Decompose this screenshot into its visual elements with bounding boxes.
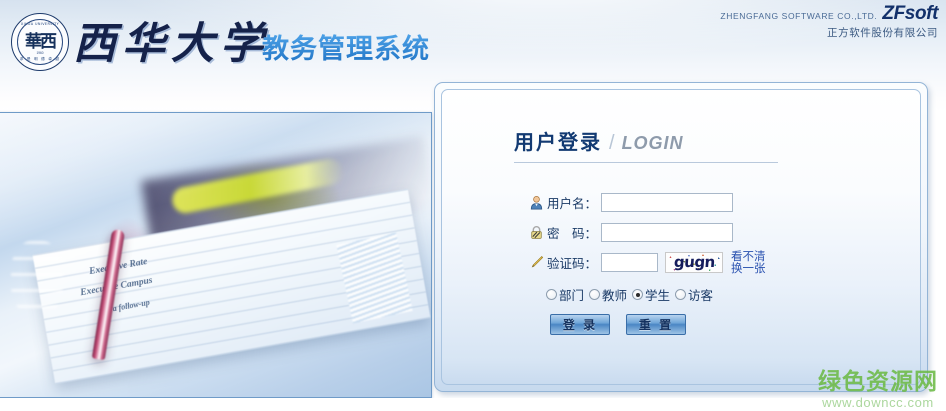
radio-dot-teacher[interactable] [589,289,600,300]
role-label-department: 部门 [559,285,584,304]
role-radio-group: 部门 教师 学生 访客 [546,285,868,304]
login-heading-divider [514,162,778,163]
vendor-name-en: ZHENGFANG SOFTWARE CO.,LTD. [720,12,877,21]
form-button-row: 登 录 重 置 [550,314,868,335]
captcha-image-text: gugn [673,253,715,271]
username-field-row: 用户名： [528,188,868,216]
login-title-separator: / [609,132,615,155]
login-title-cn: 用户登录 [514,126,602,155]
seal-year-text: 1960 [18,51,62,55]
vendor-name-cn: 正方软件股份有限公司 [720,28,938,39]
login-panel: 用户登录 / LOGIN 用户名： [434,82,928,392]
username-label: 用户名： [547,193,597,212]
login-submit-button[interactable]: 登 录 [550,314,610,335]
university-seal-logo: XIHUA UNIVERSITY 華西 1960 求 是 明 德 卓 越 [11,13,69,71]
system-name: 教务管理系统 [262,33,430,67]
captcha-refresh-link[interactable]: 看不清 换一张 [731,250,766,275]
user-icon [528,194,544,210]
radio-dot-department[interactable] [546,289,557,300]
password-label: 密 码： [547,223,597,242]
photo-binder-rings [11,241,63,315]
vendor-brand-row: ZHENGFANG SOFTWARE CO.,LTD. ZFsoft [720,4,938,23]
login-form: 用户名： 密 码： [528,188,868,335]
seal-arc-top-text: XIHUA UNIVERSITY [18,22,62,26]
username-input[interactable] [601,193,733,212]
radio-dot-student[interactable] [632,289,643,300]
login-page: XIHUA UNIVERSITY 華西 1960 求 是 明 德 卓 越 西华大… [0,0,946,411]
zfsoft-logo: ZFsoft [882,4,938,23]
decorative-photo-panel: Executive Rate Executive Campus As a fol… [0,112,432,398]
captcha-image[interactable]: gugn [665,252,723,273]
captcha-label: 验证码： [547,253,597,272]
seal-center-glyph: 華西 [25,34,55,51]
lock-icon [528,224,544,240]
captcha-input[interactable] [601,253,658,272]
role-option-visitor[interactable]: 访客 [675,285,713,304]
captcha-refresh-line-2: 换一张 [731,261,766,275]
vendor-brand: ZHENGFANG SOFTWARE CO.,LTD. ZFsoft 正方软件股… [720,4,938,39]
seal-inner-ring: XIHUA UNIVERSITY 華西 1960 求 是 明 德 卓 越 [17,19,63,65]
footer-strip [0,398,946,411]
role-option-department[interactable]: 部门 [546,285,584,304]
password-field-row: 密 码： [528,218,868,246]
role-label-student: 学生 [645,285,670,304]
login-reset-button[interactable]: 重 置 [626,314,686,335]
login-title-en: LOGIN [622,133,684,154]
login-panel-inner: 用户登录 / LOGIN 用户名： [441,89,921,385]
login-heading: 用户登录 / LOGIN [514,126,684,155]
radio-dot-visitor[interactable] [675,289,686,300]
role-option-teacher[interactable]: 教师 [589,285,627,304]
pencil-icon [528,254,544,270]
role-label-teacher: 教师 [602,285,627,304]
captcha-field-row: 验证码： gugn 看不清 换一张 [528,248,868,276]
university-name: 西华大学 [73,16,269,72]
seal-arc-bottom-text: 求 是 明 德 卓 越 [18,57,62,62]
role-label-visitor: 访客 [688,285,713,304]
role-option-student[interactable]: 学生 [632,285,670,304]
password-input[interactable] [601,223,733,242]
